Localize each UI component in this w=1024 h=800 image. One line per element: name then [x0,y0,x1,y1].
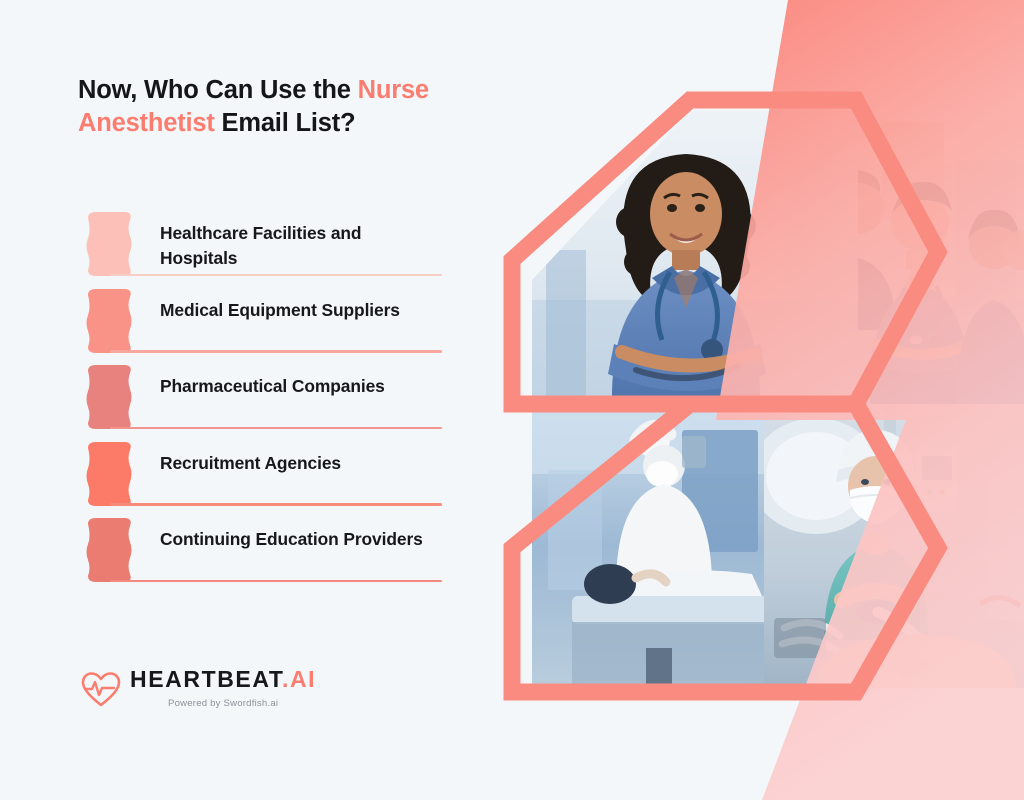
wavy-marker-icon [78,289,133,353]
list-item[interactable]: Continuing Education Providers [78,518,442,595]
wavy-marker-icon [78,365,133,429]
list-item-label: Recruitment Agencies [160,442,442,476]
list-item[interactable]: Medical Equipment Suppliers [78,289,442,366]
list-item[interactable]: Pharmaceutical Companies [78,365,442,442]
list-item-label: Pharmaceutical Companies [160,365,442,399]
divider [110,427,442,430]
list-item[interactable]: Healthcare Facilities and Hospitals [78,212,442,289]
heartbeat-pulse-icon [80,670,122,708]
list-item-label: Medical Equipment Suppliers [160,289,442,323]
audience-list: Healthcare Facilities and Hospitals Medi… [78,212,442,595]
divider [110,274,442,277]
page-title: Now, Who Can Use the Nurse Anesthetist E… [78,74,458,140]
divider [110,580,442,583]
logo-wordmark: HEARTBEAT.AI [130,668,316,691]
infographic-canvas: Now, Who Can Use the Nurse Anesthetist E… [0,0,1024,800]
heartbeat-logo[interactable]: HEARTBEAT.AI Powered by Swordfish.ai [80,668,316,709]
list-item-label: Continuing Education Providers [160,518,442,552]
wavy-marker-icon [78,518,133,582]
logo-word-main: HEARTBEAT [130,666,282,692]
wavy-marker-icon [78,212,133,276]
artwork-panel [486,0,1024,800]
divider [110,503,442,506]
title-part-2: Email List? [215,109,356,137]
divider [110,350,442,353]
title-part-1: Now, Who Can Use the [78,76,358,104]
list-item-label: Healthcare Facilities and Hospitals [160,212,442,270]
logo-word-accent: .AI [282,666,316,692]
wavy-marker-icon [78,442,133,506]
list-item[interactable]: Recruitment Agencies [78,442,442,519]
logo-tagline: Powered by Swordfish.ai [130,698,316,709]
